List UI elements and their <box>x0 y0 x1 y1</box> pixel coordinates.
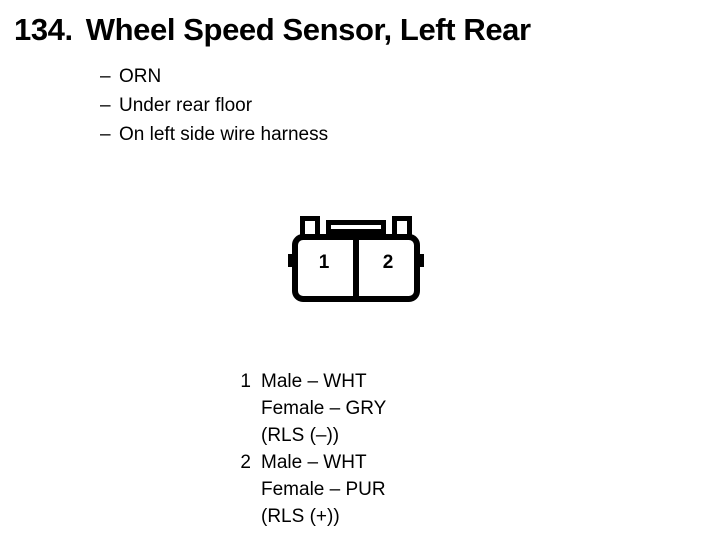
title-text: Wheel Speed Sensor, Left Rear <box>86 12 531 48</box>
connector-nub-right-icon <box>417 254 424 267</box>
detail-list: – ORN – Under rear floor – On left side … <box>100 62 328 149</box>
detail-label: On left side wire harness <box>119 120 328 149</box>
pin-detail-lines: Male – WHT Female – PUR (RLS (+)) <box>261 449 386 530</box>
dash-bullet-icon: – <box>100 120 117 149</box>
latch-bar-icon <box>326 220 386 234</box>
list-item: – ORN <box>100 62 328 91</box>
cavity-divider <box>353 234 359 302</box>
pin-number: 2 <box>236 449 251 476</box>
connector-nub-left-icon <box>288 254 295 267</box>
pin-line-signal: (RLS (+)) <box>261 503 386 530</box>
page-title: 134. Wheel Speed Sensor, Left Rear <box>14 12 531 48</box>
connector-diagram: 1 2 <box>288 216 424 302</box>
pin-entry-2: 2 Male – WHT Female – PUR (RLS (+)) <box>236 449 386 530</box>
pin-line-female: Female – GRY <box>261 395 386 422</box>
pin-number: 1 <box>236 368 251 395</box>
pin-line-male: Male – WHT <box>261 368 386 395</box>
list-item: – On left side wire harness <box>100 120 328 149</box>
cavity-number-2: 2 <box>368 252 408 274</box>
pin-detail-lines: Male – WHT Female – GRY (RLS (–)) <box>261 368 386 449</box>
dash-bullet-icon: – <box>100 91 117 120</box>
list-item: – Under rear floor <box>100 91 328 120</box>
detail-label: ORN <box>119 62 161 91</box>
pin-legend: 1 Male – WHT Female – GRY (RLS (–)) 2 Ma… <box>236 368 386 530</box>
pin-entry-1: 1 Male – WHT Female – GRY (RLS (–)) <box>236 368 386 449</box>
pin-line-male: Male – WHT <box>261 449 386 476</box>
detail-label: Under rear floor <box>119 91 252 120</box>
dash-bullet-icon: – <box>100 62 117 91</box>
pin-line-signal: (RLS (–)) <box>261 422 386 449</box>
pin-line-female: Female – PUR <box>261 476 386 503</box>
entry-number: 134. <box>14 12 73 48</box>
cavity-number-1: 1 <box>304 252 344 274</box>
